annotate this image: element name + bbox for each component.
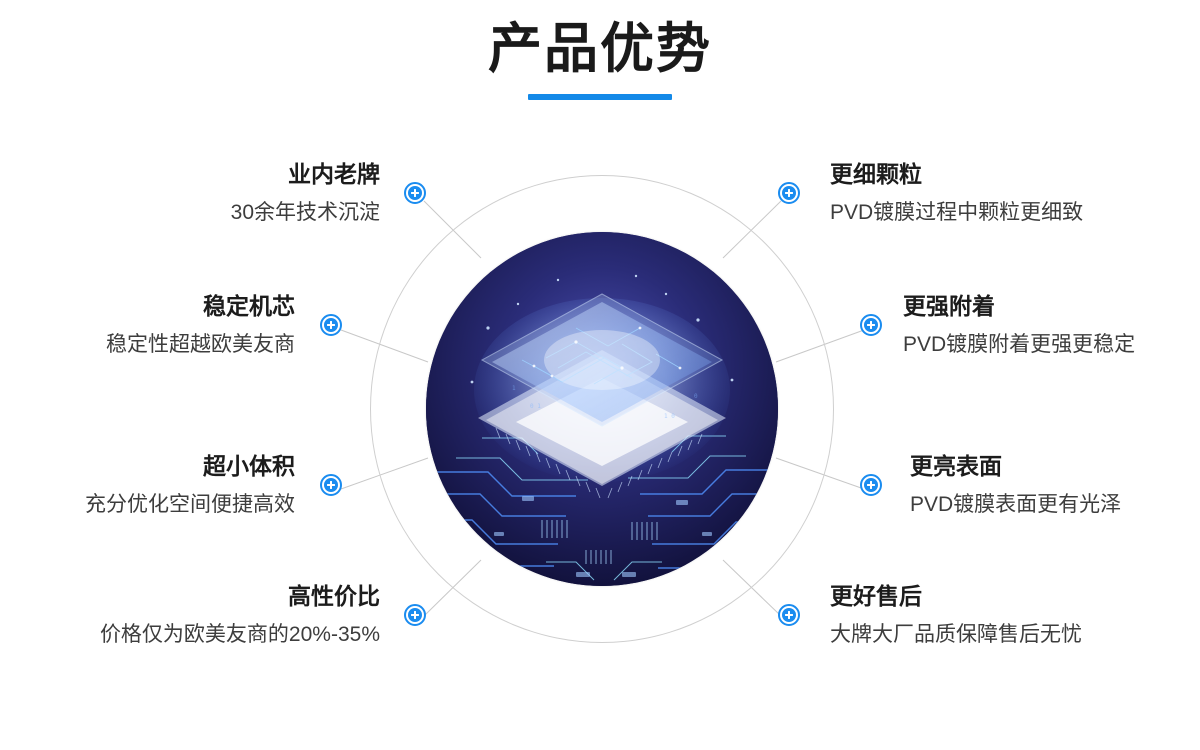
product-advantages-infographic: 产品优势 [0,0,1200,750]
plus-circle-icon-right-1[interactable] [778,182,800,204]
feature-desc: PVD镀膜附着更强更稳定 [903,331,1193,359]
plus-circle-icon-left-3[interactable] [320,474,342,496]
svg-text:1 0: 1 0 [664,413,675,420]
feature-desc: 价格仅为欧美友商的20%-35% [60,621,380,649]
feature-title: 稳定机芯 [20,292,295,322]
feature-right-4: 更好售后 大牌大厂品质保障售后无忧 [830,582,1160,649]
svg-text:1: 1 [512,385,516,392]
feature-desc: 充分优化空间便捷高效 [10,491,295,519]
feature-left-4: 高性价比 价格仅为欧美友商的20%-35% [60,582,380,649]
feature-right-2: 更强附着 PVD镀膜附着更强更稳定 [903,292,1193,359]
title-underline [528,94,672,100]
feature-title: 超小体积 [10,452,295,482]
feature-left-2: 稳定机芯 稳定性超越欧美友商 [20,292,295,359]
feature-title: 高性价比 [60,582,380,612]
plus-circle-icon-right-4[interactable] [778,604,800,626]
feature-left-3: 超小体积 充分优化空间便捷高效 [10,452,295,519]
feature-title: 更亮表面 [910,452,1190,482]
feature-desc: PVD镀膜表面更有光泽 [910,491,1190,519]
plus-circle-icon-left-2[interactable] [320,314,342,336]
feature-desc: 稳定性超越欧美友商 [20,331,295,359]
feature-right-1: 更细颗粒 PVD镀膜过程中颗粒更细致 [830,160,1170,227]
page-title: 产品优势 [0,18,1200,80]
feature-desc: PVD镀膜过程中颗粒更细致 [830,199,1170,227]
feature-title: 更好售后 [830,582,1160,612]
plus-circle-icon-left-4[interactable] [404,604,426,626]
plus-glyph [324,478,338,492]
plus-glyph [408,608,422,622]
plus-glyph [408,186,422,200]
plus-circle-icon-right-3[interactable] [860,474,882,496]
feature-left-1: 业内老牌 30余年技术沉淀 [60,160,380,227]
chip-photo: 0 1 1 0 1 0 [426,232,778,586]
feature-title: 业内老牌 [60,160,380,190]
feature-title: 更细颗粒 [830,160,1170,190]
feature-desc: 30余年技术沉淀 [60,199,380,227]
feature-right-3: 更亮表面 PVD镀膜表面更有光泽 [910,452,1190,519]
plus-circle-icon-right-2[interactable] [860,314,882,336]
plus-glyph [324,318,338,332]
plus-glyph [864,478,878,492]
plus-glyph [782,186,796,200]
svg-text:0 1: 0 1 [530,403,541,410]
title-block: 产品优势 [0,18,1200,100]
feature-title: 更强附着 [903,292,1193,322]
feature-desc: 大牌大厂品质保障售后无忧 [830,621,1160,649]
plus-glyph [864,318,878,332]
svg-text:0: 0 [694,393,698,400]
plus-glyph [782,608,796,622]
plus-circle-icon-left-1[interactable] [404,182,426,204]
